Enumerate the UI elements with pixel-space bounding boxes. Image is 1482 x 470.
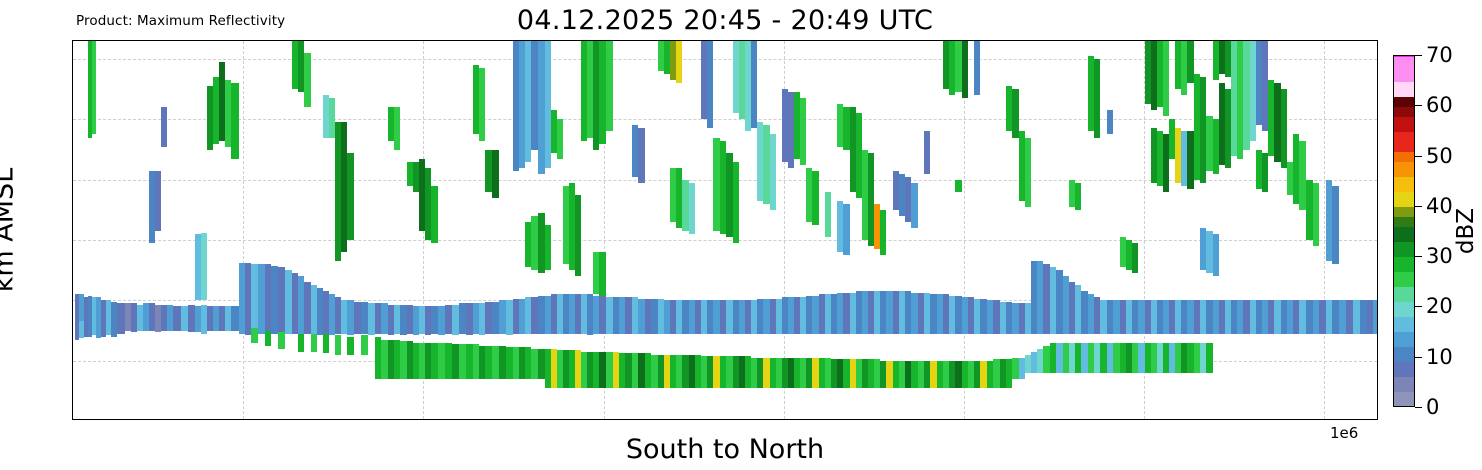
reflectivity-cell bbox=[993, 359, 1000, 388]
reflectivity-cell bbox=[1043, 264, 1050, 333]
reflectivity-cell bbox=[1012, 89, 1019, 137]
colorbar-segment bbox=[1394, 256, 1414, 272]
reflectivity-cell bbox=[173, 306, 181, 330]
colorbar-tick-label: 10 bbox=[1426, 345, 1453, 369]
reflectivity-cell bbox=[531, 216, 538, 270]
reflectivity-cell bbox=[843, 107, 850, 149]
reflectivity-cell bbox=[445, 343, 452, 379]
reflectivity-cell bbox=[800, 98, 806, 164]
reflectivity-cell bbox=[438, 343, 445, 379]
reflectivity-cell bbox=[763, 299, 770, 334]
colorbar-tick-mark bbox=[1415, 256, 1422, 257]
x-tick-mark bbox=[964, 419, 965, 420]
x-axis-label: South to North bbox=[72, 434, 1378, 465]
reflectivity-cell bbox=[231, 306, 239, 330]
reflectivity-cell bbox=[1187, 41, 1194, 83]
reflectivity-cell bbox=[492, 302, 499, 334]
reflectivity-cell bbox=[599, 352, 606, 388]
reflectivity-cell bbox=[713, 138, 720, 231]
reflectivity-cell bbox=[531, 41, 538, 150]
reflectivity-cell bbox=[1163, 41, 1169, 116]
colorbar-tick-label: 50 bbox=[1426, 144, 1453, 168]
radar-cross-section-figure: Product: Maximum Reflectivity 04.12.2025… bbox=[0, 0, 1482, 470]
colorbar-segment bbox=[1394, 346, 1414, 362]
colorbar-segment bbox=[1394, 241, 1414, 257]
reflectivity-cell bbox=[911, 183, 918, 228]
reflectivity-cell bbox=[1187, 131, 1194, 188]
plot-area: 024681012 bbox=[72, 40, 1378, 420]
reflectivity-cell bbox=[726, 300, 733, 333]
reflectivity-cell bbox=[1353, 300, 1360, 333]
reflectivity-cell bbox=[251, 264, 258, 333]
reflectivity-cell bbox=[188, 305, 195, 332]
reflectivity-cell bbox=[479, 68, 485, 140]
colorbar-tick-mark bbox=[1415, 306, 1422, 307]
colorbar-tick-mark bbox=[1415, 156, 1422, 157]
reflectivity-cell bbox=[485, 302, 492, 334]
reflectivity-cell bbox=[499, 346, 506, 379]
reflectivity-cell bbox=[955, 41, 962, 92]
colorbar bbox=[1393, 55, 1415, 407]
colorbar-tick-mark bbox=[1415, 105, 1422, 106]
reflectivity-cell bbox=[278, 267, 285, 333]
reflectivity-cell bbox=[726, 356, 733, 388]
reflectivity-cell bbox=[1339, 300, 1346, 333]
colorbar-segment bbox=[1394, 206, 1414, 217]
reflectivity-cell bbox=[1113, 300, 1120, 333]
reflectivity-cell bbox=[1281, 89, 1287, 167]
reflectivity-cell bbox=[1025, 138, 1031, 207]
reflectivity-cell bbox=[843, 293, 850, 334]
x-tick-mark bbox=[1144, 419, 1145, 420]
reflectivity-cell bbox=[381, 303, 388, 333]
reflectivity-cell bbox=[962, 41, 968, 98]
colorbar-segment bbox=[1394, 376, 1414, 392]
reflectivity-data bbox=[73, 41, 1377, 419]
reflectivity-cell bbox=[452, 344, 459, 379]
reflectivity-cell bbox=[298, 334, 304, 352]
reflectivity-cell bbox=[1332, 300, 1339, 333]
reflectivity-cell bbox=[1094, 59, 1100, 137]
y-tick-mark bbox=[72, 361, 73, 362]
reflectivity-cell bbox=[538, 349, 545, 379]
reflectivity-cell bbox=[1012, 303, 1019, 333]
colorbar-segment bbox=[1394, 56, 1414, 57]
y-tick-mark bbox=[72, 180, 73, 181]
reflectivity-cell bbox=[347, 300, 354, 335]
reflectivity-cell bbox=[843, 204, 850, 255]
reflectivity-cell bbox=[955, 296, 962, 334]
reflectivity-cell bbox=[466, 344, 473, 379]
colorbar-tick-label: 40 bbox=[1426, 194, 1453, 218]
reflectivity-cell bbox=[1138, 300, 1145, 333]
reflectivity-cell bbox=[606, 41, 613, 131]
reflectivity-cell bbox=[431, 306, 438, 333]
reflectivity-cell bbox=[1012, 358, 1019, 379]
colorbar-segment bbox=[1394, 391, 1414, 407]
x-tick-mark bbox=[423, 419, 424, 420]
colorbar-tick-mark bbox=[1415, 407, 1422, 408]
colorbar-label: dBZ bbox=[1453, 208, 1479, 254]
reflectivity-cell bbox=[400, 341, 407, 379]
reflectivity-cell bbox=[689, 183, 695, 234]
reflectivity-cell bbox=[1332, 186, 1339, 264]
reflectivity-cell bbox=[676, 41, 682, 83]
reflectivity-cell bbox=[231, 83, 239, 158]
x-tick-mark bbox=[243, 419, 244, 420]
reflectivity-cell bbox=[713, 300, 720, 333]
reflectivity-cell bbox=[531, 349, 538, 379]
reflectivity-cell bbox=[1206, 116, 1213, 170]
reflectivity-cell bbox=[485, 346, 492, 379]
reflectivity-cell bbox=[1187, 300, 1194, 333]
reflectivity-cell bbox=[955, 180, 962, 192]
reflectivity-cell bbox=[506, 347, 513, 379]
reflectivity-cell bbox=[1138, 343, 1145, 373]
reflectivity-cell bbox=[361, 302, 368, 334]
reflectivity-cell bbox=[1206, 231, 1213, 273]
reflectivity-cell bbox=[886, 361, 893, 388]
reflectivity-cell bbox=[1081, 291, 1088, 333]
reflectivity-cell bbox=[751, 41, 757, 128]
reflectivity-cell bbox=[1056, 343, 1063, 373]
reflectivity-cell bbox=[924, 131, 930, 173]
reflectivity-cell bbox=[625, 353, 632, 388]
colorbar-segment bbox=[1394, 96, 1414, 107]
reflectivity-cell bbox=[980, 361, 987, 388]
y-tick-mark bbox=[72, 240, 73, 241]
colorbar-segment bbox=[1394, 106, 1414, 117]
reflectivity-cell bbox=[485, 150, 492, 192]
reflectivity-cell bbox=[545, 225, 551, 270]
reflectivity-cell bbox=[825, 192, 831, 237]
colorbar-segment bbox=[1394, 161, 1414, 177]
reflectivity-cell bbox=[606, 352, 613, 388]
reflectivity-cell bbox=[452, 305, 459, 335]
reflectivity-cell bbox=[161, 107, 167, 146]
reflectivity-cell bbox=[1081, 343, 1088, 373]
reflectivity-cell bbox=[1274, 300, 1281, 333]
reflectivity-cell bbox=[1373, 300, 1377, 333]
x-axis-offset-label: 1e6 bbox=[1330, 424, 1358, 442]
reflectivity-cell bbox=[707, 41, 713, 128]
reflectivity-cell bbox=[459, 303, 466, 333]
reflectivity-cell bbox=[1306, 300, 1313, 333]
colorbar-tick-mark bbox=[1415, 206, 1422, 207]
reflectivity-cell bbox=[1243, 300, 1250, 333]
y-tick-mark bbox=[72, 300, 73, 301]
reflectivity-cell bbox=[278, 332, 285, 349]
colorbar-tick-mark bbox=[1415, 55, 1422, 56]
reflectivity-cell bbox=[271, 266, 278, 334]
reflectivity-cell bbox=[400, 305, 407, 335]
colorbar-segment bbox=[1394, 191, 1414, 207]
reflectivity-cell bbox=[638, 353, 645, 388]
colorbar-tick-label: 70 bbox=[1426, 43, 1453, 67]
colorbar-segment bbox=[1394, 361, 1414, 377]
colorbar-segment bbox=[1394, 151, 1414, 162]
reflectivity-cell bbox=[323, 334, 329, 354]
reflectivity-cell bbox=[368, 303, 375, 335]
reflectivity-cell bbox=[492, 346, 499, 379]
reflectivity-cell bbox=[311, 334, 317, 352]
reflectivity-cell bbox=[713, 356, 720, 388]
reflectivity-cell bbox=[557, 119, 563, 158]
reflectivity-cell bbox=[459, 344, 466, 379]
reflectivity-cell bbox=[1107, 110, 1113, 134]
reflectivity-cell bbox=[304, 53, 311, 107]
x-tick-mark bbox=[784, 419, 785, 420]
reflectivity-cell bbox=[304, 282, 311, 333]
reflectivity-cell bbox=[1360, 300, 1367, 333]
colorbar-segment bbox=[1394, 271, 1414, 287]
reflectivity-cell bbox=[445, 305, 452, 334]
colorbar-segment bbox=[1394, 226, 1414, 242]
reflectivity-cell bbox=[1306, 180, 1313, 240]
reflectivity-cell bbox=[1243, 41, 1250, 150]
reflectivity-cell bbox=[930, 361, 937, 388]
reflectivity-cell bbox=[1187, 343, 1194, 373]
reflectivity-cell bbox=[431, 343, 438, 379]
reflectivity-cell bbox=[538, 41, 545, 174]
reflectivity-cell bbox=[347, 153, 354, 240]
reflectivity-cell bbox=[1056, 270, 1063, 333]
colorbar-segment bbox=[1394, 116, 1414, 132]
reflectivity-cell bbox=[843, 359, 850, 388]
reflectivity-cell bbox=[993, 300, 1000, 333]
reflectivity-cell bbox=[499, 300, 506, 333]
reflectivity-cell bbox=[651, 355, 658, 388]
colorbar-segment bbox=[1394, 216, 1414, 227]
reflectivity-cell bbox=[1113, 343, 1120, 373]
reflectivity-cell bbox=[606, 297, 613, 333]
reflectivity-cell bbox=[763, 125, 770, 203]
reflectivity-cell bbox=[1274, 83, 1281, 161]
colorbar-segment bbox=[1394, 286, 1414, 302]
reflectivity-cell bbox=[538, 296, 545, 334]
reflectivity-cell bbox=[733, 162, 739, 243]
colorbar-segment bbox=[1394, 301, 1414, 317]
reflectivity-cell bbox=[651, 299, 658, 334]
reflectivity-cell bbox=[1262, 153, 1268, 192]
reflectivity-cell bbox=[466, 303, 473, 335]
y-tick-mark bbox=[72, 59, 73, 60]
reflectivity-cell bbox=[880, 210, 886, 255]
reflectivity-cell bbox=[155, 171, 161, 231]
reflectivity-cell bbox=[531, 297, 538, 333]
colorbar-segment bbox=[1394, 131, 1414, 152]
x-tick-mark bbox=[604, 419, 605, 420]
reflectivity-cell bbox=[1346, 300, 1353, 333]
colorbar-segment bbox=[1394, 81, 1414, 97]
reflectivity-cell bbox=[980, 299, 987, 334]
reflectivity-cell bbox=[1075, 183, 1081, 210]
reflectivity-cell bbox=[625, 297, 632, 333]
reflectivity-cell bbox=[599, 41, 606, 144]
reflectivity-cell bbox=[599, 252, 606, 300]
reflectivity-cell bbox=[955, 361, 962, 388]
reflectivity-cell bbox=[1313, 183, 1319, 246]
reflectivity-cell bbox=[1132, 243, 1138, 273]
colorbar-segment bbox=[1394, 56, 1414, 82]
reflectivity-cell bbox=[599, 296, 606, 334]
reflectivity-cell bbox=[335, 335, 341, 355]
reflectivity-cell bbox=[812, 296, 819, 334]
x-tick-mark bbox=[1324, 419, 1325, 420]
reflectivity-cell bbox=[886, 291, 893, 333]
reflectivity-cell bbox=[201, 233, 207, 301]
reflectivity-cell bbox=[285, 270, 292, 333]
reflectivity-cell bbox=[638, 299, 645, 334]
reflectivity-cell bbox=[1100, 300, 1107, 333]
reflectivity-cell bbox=[258, 264, 265, 333]
reflectivity-cell bbox=[431, 186, 438, 243]
reflectivity-cell bbox=[1299, 300, 1306, 333]
reflectivity-cell bbox=[1100, 343, 1107, 373]
reflectivity-cell bbox=[726, 153, 733, 237]
reflectivity-cell bbox=[1319, 300, 1326, 333]
y-tick-mark bbox=[72, 119, 73, 120]
reflectivity-cell bbox=[638, 128, 645, 182]
reflectivity-cell bbox=[930, 294, 937, 333]
chart-title: 04.12.2025 20:45 - 20:49 UTC bbox=[72, 5, 1378, 36]
reflectivity-cell bbox=[538, 213, 545, 273]
reflectivity-cell bbox=[181, 306, 188, 330]
y-axis-label: km AMSL bbox=[0, 168, 20, 292]
reflectivity-cell bbox=[354, 302, 361, 334]
reflectivity-cell bbox=[812, 171, 819, 225]
colorbar-segment bbox=[1394, 176, 1414, 192]
reflectivity-cell bbox=[682, 355, 689, 388]
reflectivity-cell bbox=[117, 303, 125, 333]
reflectivity-cell bbox=[347, 337, 354, 355]
reflectivity-cell bbox=[812, 358, 819, 388]
reflectivity-cell bbox=[92, 41, 96, 134]
reflectivity-cell bbox=[911, 361, 918, 388]
reflectivity-cell bbox=[381, 340, 388, 379]
reflectivity-cell bbox=[1206, 343, 1213, 373]
reflectivity-cell bbox=[682, 300, 689, 333]
reflectivity-cell bbox=[770, 134, 776, 209]
reflectivity-cell bbox=[763, 358, 770, 388]
reflectivity-cell bbox=[911, 293, 918, 334]
reflectivity-cell bbox=[974, 41, 980, 95]
colorbar-tick-label: 0 bbox=[1426, 395, 1439, 419]
reflectivity-cell bbox=[251, 328, 258, 343]
colorbar-tick-mark bbox=[1415, 357, 1422, 358]
colorbar-segment bbox=[1394, 331, 1414, 347]
colorbar-tick-label: 20 bbox=[1426, 294, 1453, 318]
reflectivity-cell bbox=[394, 107, 400, 149]
colorbar-segment bbox=[1394, 316, 1414, 332]
reflectivity-cell bbox=[1043, 346, 1050, 373]
reflectivity-cell bbox=[492, 150, 499, 198]
reflectivity-cell bbox=[1213, 234, 1219, 276]
reflectivity-cell bbox=[506, 300, 513, 335]
reflectivity-cell bbox=[1299, 141, 1306, 210]
colorbar-tick-label: 30 bbox=[1426, 244, 1453, 268]
reflectivity-cell bbox=[1206, 300, 1213, 333]
reflectivity-cell bbox=[682, 180, 689, 231]
reflectivity-cell bbox=[575, 195, 581, 276]
colorbar-tick-label: 60 bbox=[1426, 93, 1453, 117]
reflectivity-cell bbox=[361, 335, 368, 355]
reflectivity-cell bbox=[438, 306, 445, 335]
